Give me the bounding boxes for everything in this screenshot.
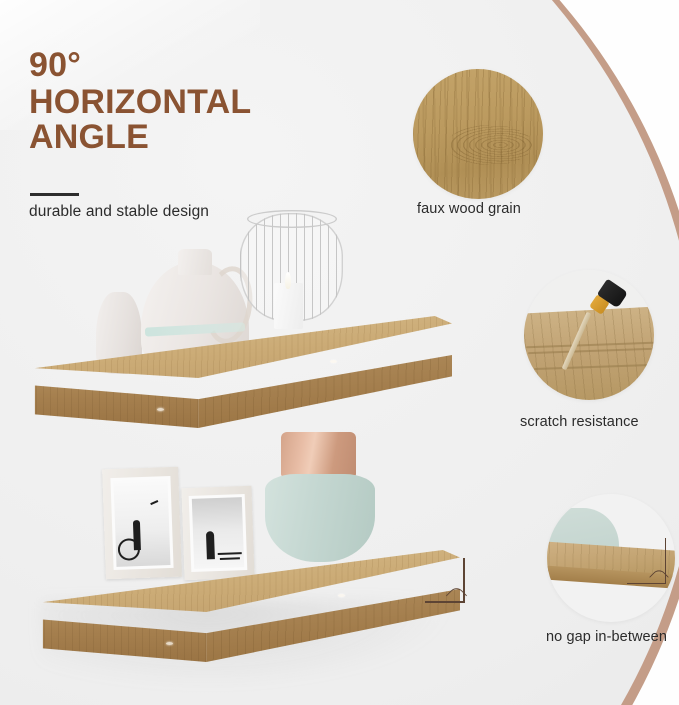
ribbed-glass-vase-rim [247, 210, 337, 228]
upper-shelf-screw-left [157, 408, 164, 411]
no-gap-right-angle-indicator [633, 538, 673, 588]
wood-grain-knot [447, 125, 533, 165]
lower-shelf [24, 548, 460, 666]
upper-shelf [12, 312, 452, 432]
feature-label-faux-wood-grain: faux wood grain [417, 201, 521, 217]
headline-line-1: HORIZONTAL [29, 85, 359, 120]
headline-divider [30, 193, 79, 196]
large-white-jug-neck [178, 249, 212, 275]
headline-line-2: ANGLE [29, 120, 359, 155]
faux-wood-grain-swatch [413, 69, 543, 199]
feature-label-scratch-resistance: scratch resistance [520, 414, 639, 430]
art-bird [150, 500, 158, 505]
headline-subtitle: durable and stable design [29, 203, 209, 221]
copper-pot-collar [281, 432, 356, 477]
lower-shelf-screw-right [338, 594, 345, 597]
upper-shelf-screw-right [330, 360, 337, 363]
headline-block: 90° HORIZONTAL ANGLE [29, 48, 359, 155]
lower-shelf-screw-left [166, 642, 173, 645]
product-infographic: 90° HORIZONTAL ANGLE durable and stable … [0, 0, 679, 705]
headline-degree: 90° [29, 48, 359, 83]
candle-flame [285, 272, 291, 289]
scratch-resistance-swatch [524, 270, 654, 400]
feature-label-no-gap-in-between: no gap in-between [546, 629, 667, 645]
no-gap-swatch [547, 494, 675, 622]
right-angle-indicator [425, 558, 471, 606]
